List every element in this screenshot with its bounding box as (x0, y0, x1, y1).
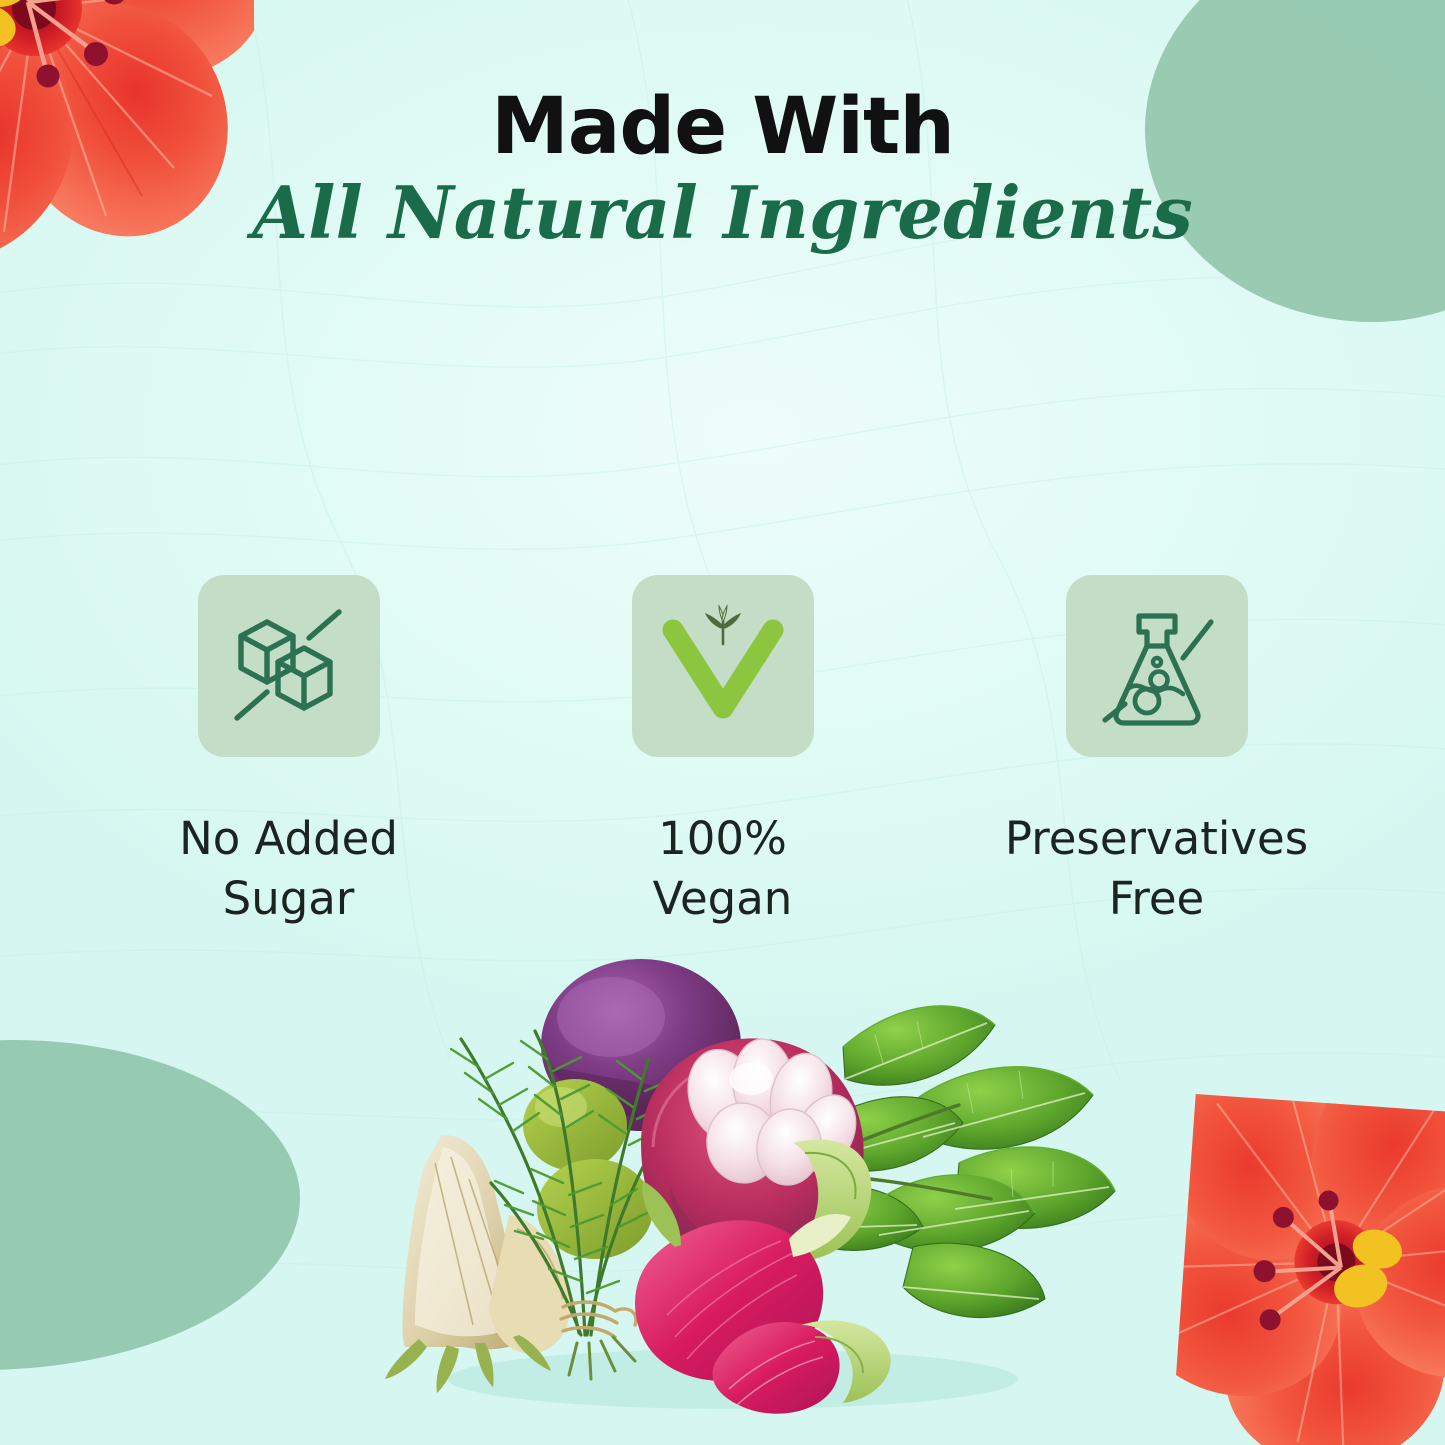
icon-tile-preservatives-free (1066, 575, 1248, 757)
feature-vegan: 100% Vegan (608, 575, 838, 929)
icon-tile-vegan (632, 575, 814, 757)
headline-primary: Made With (0, 86, 1445, 169)
feature-label-no-added-sugar: No Added Sugar (179, 809, 398, 929)
feature-no-added-sugar: No Added Sugar (174, 575, 404, 929)
icon-tile-no-added-sugar (198, 575, 380, 757)
no-sugar-cubes-icon (223, 600, 355, 732)
sage-blob-bottom-left (0, 1040, 300, 1370)
headline-block: Made With All Natural Ingredients (0, 86, 1445, 257)
headline-secondary: All Natural Ingredients (0, 169, 1445, 257)
poster-canvas: Made With All Natural Ingredients (0, 0, 1445, 1445)
botanical-ingredients-photo (323, 947, 1123, 1417)
vegan-checkmark-sprout-icon (657, 600, 789, 732)
hibiscus-flower-icon-bottom-right (1167, 1094, 1445, 1445)
feature-preservatives-free: Preservatives Free (1042, 575, 1272, 929)
feature-row: No Added Sugar 100% Vegan (0, 575, 1445, 929)
feature-label-preservatives-free: Preservatives Free (1005, 809, 1308, 929)
feature-label-vegan: 100% Vegan (608, 809, 838, 929)
no-chemical-flask-icon (1091, 600, 1223, 732)
